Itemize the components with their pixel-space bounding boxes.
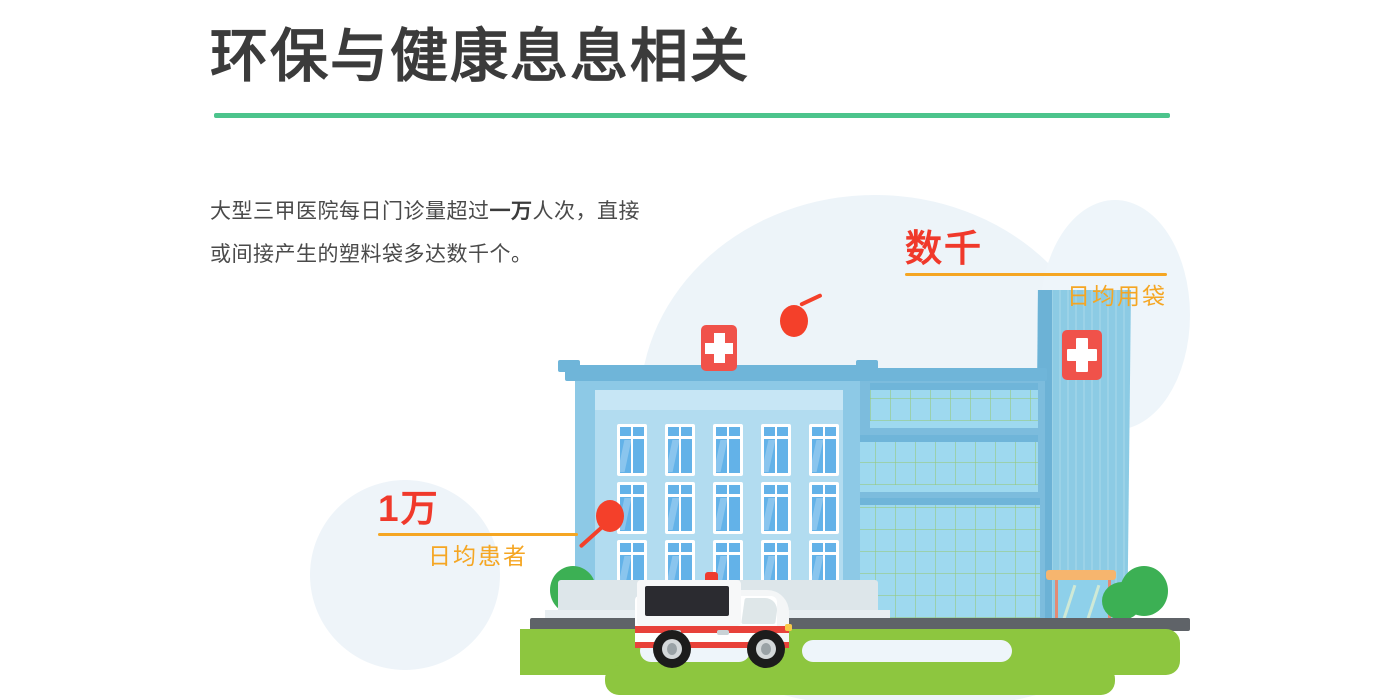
tower-entrance-canopy xyxy=(1046,570,1116,580)
window xyxy=(665,424,695,476)
tower-red-cross-icon xyxy=(1062,330,1102,380)
ambulance-wheel-front xyxy=(747,630,785,668)
body-paragraph: 大型三甲医院每日门诊量超过一万人次，直接或间接产生的塑料袋多达数千个。 xyxy=(210,190,640,276)
annotation-value: 1万 xyxy=(378,490,578,527)
window xyxy=(713,482,743,534)
paragraph-highlight: 一万 xyxy=(490,200,533,223)
annotation-value: 数千 xyxy=(905,230,1167,267)
window xyxy=(761,482,791,534)
ambulance-windshield xyxy=(741,598,779,624)
window xyxy=(665,482,695,534)
window xyxy=(713,424,743,476)
annotation-marker-dot xyxy=(596,500,624,532)
annotation-label: 日均用袋 xyxy=(905,283,1167,311)
annotation-rule xyxy=(378,533,578,536)
window xyxy=(761,424,791,476)
main-red-cross-icon xyxy=(701,325,737,371)
bush-right-2 xyxy=(1102,582,1142,620)
window xyxy=(809,482,839,534)
ambulance-side-window xyxy=(645,586,729,616)
annotation-patients-per-day: 1万 日均患者 xyxy=(378,490,578,571)
paragraph-part-1: 大型三甲医院每日门诊量超过 xyxy=(210,200,490,223)
annotation-bags-per-day: 数千 日均用袋 xyxy=(905,230,1167,311)
path-marking-2 xyxy=(802,640,1012,662)
window xyxy=(809,424,839,476)
slide-canvas: 环保与健康息息相关 大型三甲医院每日门诊量超过一万人次，直接或间接产生的塑料袋多… xyxy=(0,0,1400,700)
window xyxy=(617,424,647,476)
annotation-marker-dot xyxy=(780,305,808,337)
annotation-rule xyxy=(905,273,1167,276)
hospital-illustration xyxy=(490,280,1190,690)
annotation-label: 日均患者 xyxy=(378,543,578,571)
ambulance-wheel-rear xyxy=(653,630,691,668)
ambulance xyxy=(635,568,795,673)
ambulance-headlight-icon xyxy=(785,624,792,631)
main-building-upper-band xyxy=(595,390,843,410)
title-underline-rule xyxy=(214,113,1170,118)
page-title: 环保与健康息息相关 xyxy=(210,25,750,89)
